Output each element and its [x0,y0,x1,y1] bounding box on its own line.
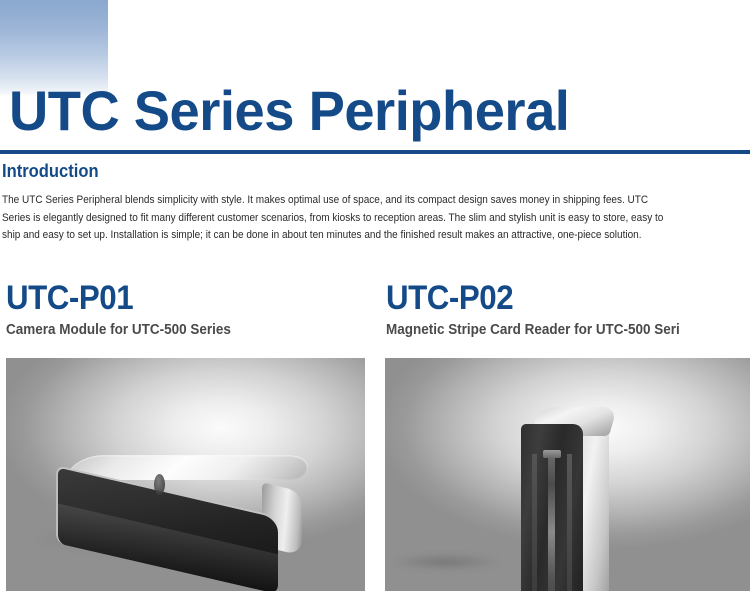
product-heading-utc-p01: UTC-P01 Camera Module for UTC-500 Series [6,278,366,340]
title-divider-rule [0,150,750,154]
camera-module-front-face [56,465,278,591]
product-code-utc-p01: UTC-P01 [6,278,337,318]
introduction-body-text: The UTC Series Peripheral blends simplic… [2,192,675,245]
product-photo-utc-p01 [6,358,365,591]
card-reader-rail-left [532,454,537,591]
camera-module-illustration [56,440,306,560]
card-reader-swipe-slot [548,454,555,591]
card-reader-slot-housing [521,424,583,591]
product-description-utc-p01: Camera Module for UTC-500 Series [6,321,341,340]
datasheet-page: UTC Series Peripheral Introduction The U… [0,0,750,591]
product-heading-utc-p02: UTC-P02 Magnetic Stripe Card Reader for … [386,278,750,340]
page-title: UTC Series Peripheral [9,80,569,142]
card-reader-rail-right [567,454,572,591]
product-description-utc-p02: Magnetic Stripe Card Reader for UTC-500 … [386,321,725,340]
product-photo-utc-p02 [385,358,750,591]
card-reader-head-notch [543,450,561,458]
card-reader-shadow [391,554,501,570]
introduction-heading: Introduction [2,160,99,182]
camera-lens-icon [154,474,165,495]
card-reader-illustration [515,402,625,591]
product-code-utc-p02: UTC-P02 [386,278,721,318]
